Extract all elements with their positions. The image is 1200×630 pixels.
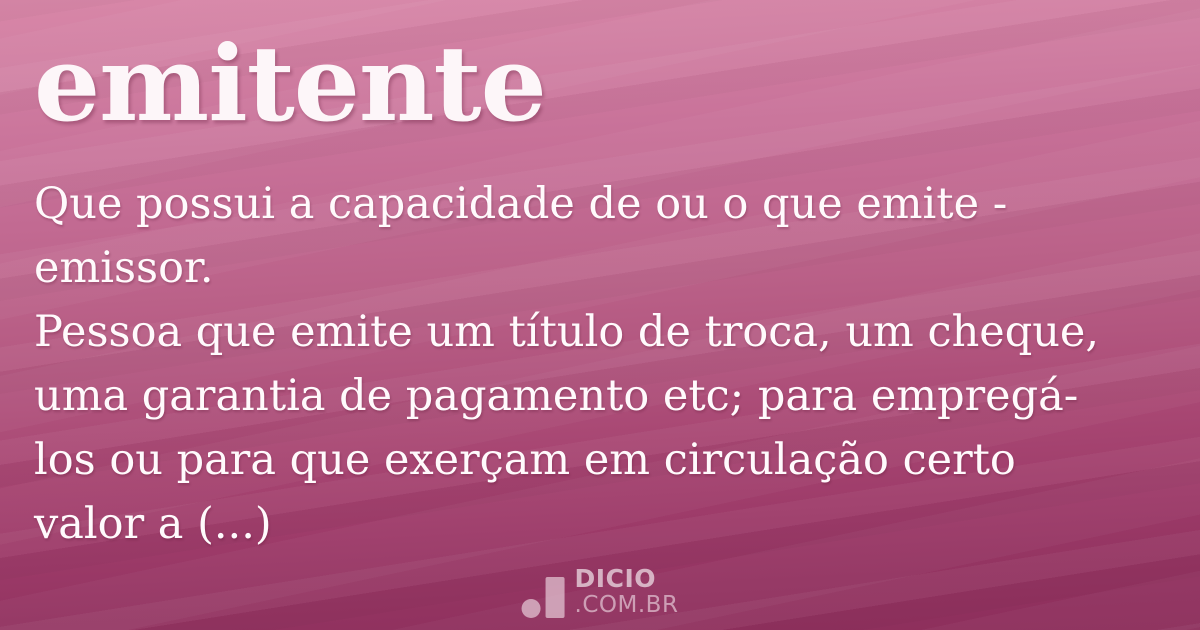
- definition-line: valor a (...): [34, 492, 1170, 556]
- dicio-logo-text: DICIO .COM.BR: [575, 566, 679, 618]
- definition-line: uma garantia de pagamento etc; para empr…: [34, 364, 1170, 428]
- word-definition-card: emitente Que possui a capacidade de ou o…: [0, 0, 1200, 630]
- definition-line: Que possui a capacidade de ou o que emit…: [34, 172, 1170, 236]
- logo-brand-name: DICIO: [575, 566, 679, 591]
- definition-line: emissor.: [34, 236, 1170, 300]
- page-title: emitente: [34, 32, 546, 136]
- card-content: emitente Que possui a capacidade de ou o…: [0, 0, 1200, 630]
- logo-bar-shape: [546, 577, 565, 618]
- dicio-logo: DICIO .COM.BR: [522, 566, 679, 618]
- logo-circle-shape: [522, 599, 541, 618]
- logo-domain-suffix: .COM.BR: [575, 594, 679, 617]
- definition-text: Que possui a capacidade de ou o que emit…: [34, 172, 1170, 556]
- definition-line: los ou para que exerçam em circulação ce…: [34, 428, 1170, 492]
- definition-line: Pessoa que emite um título de troca, um …: [34, 300, 1170, 364]
- dicio-logo-mark-icon: [522, 576, 566, 618]
